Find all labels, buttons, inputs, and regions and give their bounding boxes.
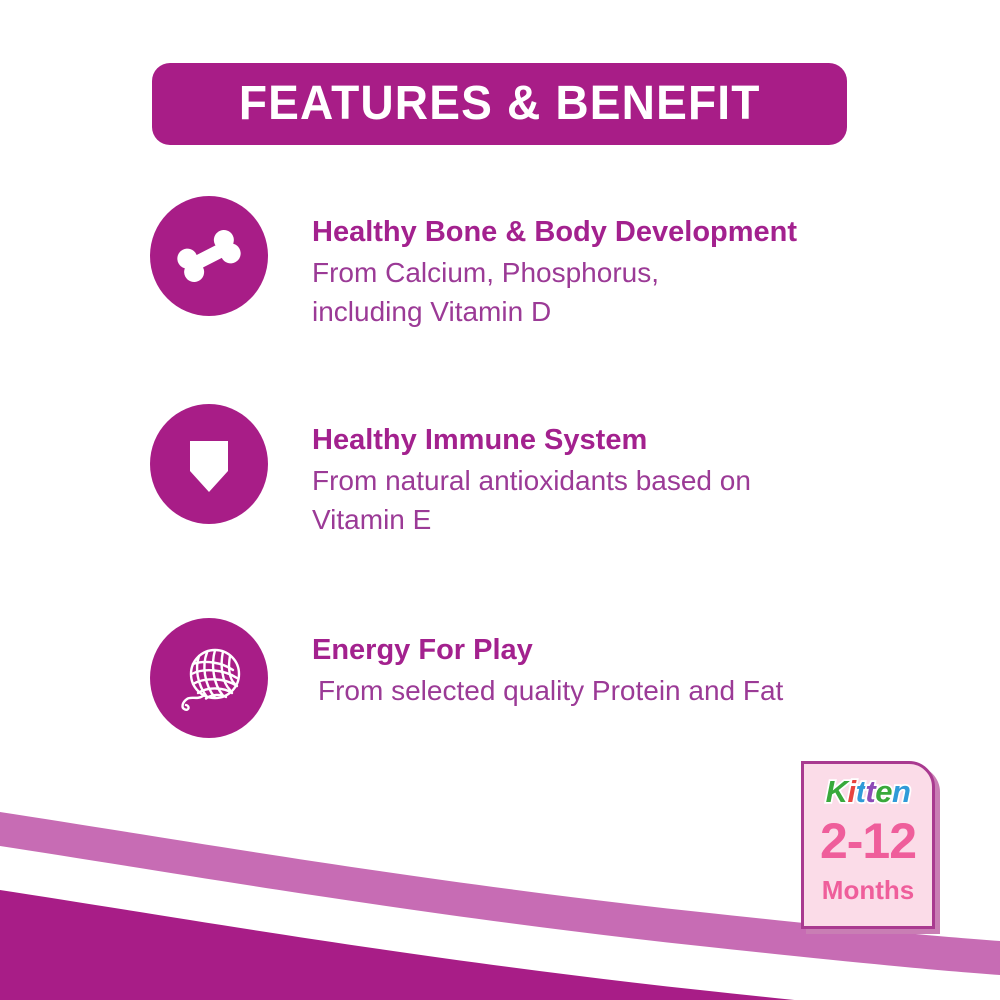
page-title: FEATURES & BENEFIT — [239, 80, 761, 128]
kitten-wordmark: Kitten — [826, 776, 911, 807]
feature-description: From Calcium, Phosphorus, including Vita… — [312, 253, 797, 333]
feature-item-energy: Energy For Play From selected quality Pr… — [150, 618, 783, 738]
feature-description: From selected quality Protein and Fat — [312, 671, 783, 711]
kitten-letter: i — [847, 776, 855, 807]
feature-benefit-poster: FEATURES & BENEFIT Healthy Bone & Body D… — [0, 0, 1000, 1000]
feature-text-block: Energy For Play From selected quality Pr… — [312, 618, 783, 710]
kitten-letter: e — [875, 776, 892, 807]
shield-icon-badge — [150, 404, 268, 524]
feature-item-immune: Healthy Immune System From natural antio… — [150, 404, 751, 540]
kitten-letter: n — [892, 776, 910, 807]
kitten-letter: t — [856, 776, 866, 807]
age-badge: Kitten 2-12 Months — [801, 761, 935, 929]
yarn-ball-icon — [165, 634, 253, 722]
age-unit-label: Months — [822, 877, 914, 903]
feature-text-block: Healthy Bone & Body Development From Cal… — [312, 196, 797, 332]
kitten-letter: t — [865, 776, 875, 807]
yarn-ball-icon-badge — [150, 618, 268, 738]
feature-text-block: Healthy Immune System From natural antio… — [312, 404, 751, 540]
header-banner: FEATURES & BENEFIT — [152, 63, 847, 145]
feature-item-bone: Healthy Bone & Body Development From Cal… — [150, 196, 797, 332]
bone-icon-badge — [150, 196, 268, 316]
feature-title: Healthy Bone & Body Development — [312, 214, 797, 251]
feature-title: Energy For Play — [312, 632, 783, 669]
bone-icon — [167, 214, 251, 298]
kitten-letter: K — [826, 776, 848, 807]
feature-title: Healthy Immune System — [312, 422, 751, 459]
shield-icon — [167, 422, 251, 506]
age-range-label: 2-12 — [820, 816, 916, 866]
feature-description: From natural antioxidants based on Vitam… — [312, 461, 751, 541]
